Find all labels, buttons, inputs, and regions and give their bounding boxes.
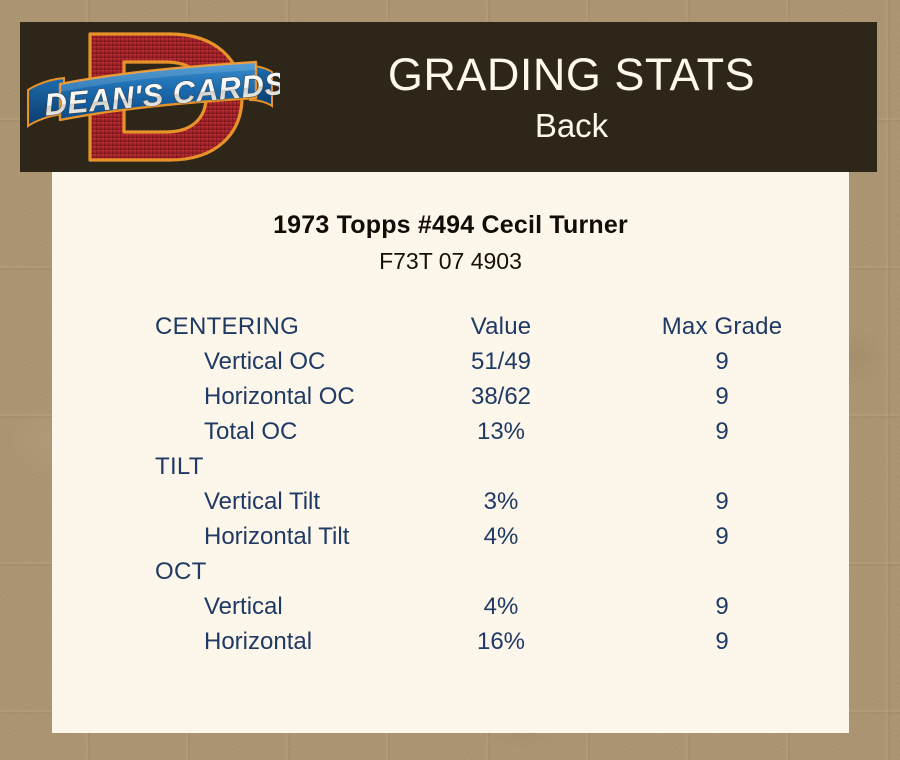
- content-panel: 1973 Topps #494 Cecil Turner F73T 07 490…: [52, 172, 849, 733]
- row-label-horizontal-oc: Horizontal OC: [52, 379, 407, 414]
- row-value-horizontal-tilt: 4%: [407, 519, 595, 554]
- table-row: Vertical OC 51/49 9: [52, 344, 849, 379]
- page-title: GRADING STATS: [280, 52, 863, 97]
- card-code: F73T 07 4903: [52, 248, 849, 275]
- table-row: Total OC 13% 9: [52, 414, 849, 449]
- table-header-row: CENTERING Value Max Grade: [52, 309, 849, 344]
- row-label-vertical-oc: Vertical OC: [52, 344, 407, 379]
- card-title: 1973 Topps #494 Cecil Turner: [52, 211, 849, 240]
- row-grade-oct-vertical: 9: [595, 589, 849, 624]
- row-label-oct-horizontal: Horizontal: [52, 624, 407, 659]
- section-spacer: [595, 449, 849, 484]
- deans-cards-logo[interactable]: DEAN'S CARDS: [20, 22, 280, 172]
- row-grade-horizontal-oc: 9: [595, 379, 849, 414]
- grading-stats-table: CENTERING Value Max Grade Vertical OC 51…: [52, 309, 849, 659]
- row-grade-oct-horizontal: 9: [595, 624, 849, 659]
- row-label-horizontal-tilt: Horizontal Tilt: [52, 519, 407, 554]
- row-grade-vertical-tilt: 9: [595, 484, 849, 519]
- section-spacer: [407, 449, 595, 484]
- row-grade-total-oc: 9: [595, 414, 849, 449]
- table-row: Horizontal 16% 9: [52, 624, 849, 659]
- header-title-group: GRADING STATS Back: [280, 52, 877, 142]
- section-row-oct: OCT: [52, 554, 849, 589]
- row-value-vertical-tilt: 3%: [407, 484, 595, 519]
- row-value-oct-horizontal: 16%: [407, 624, 595, 659]
- column-header-value: Value: [407, 309, 595, 344]
- row-label-total-oc: Total OC: [52, 414, 407, 449]
- table-row: Horizontal OC 38/62 9: [52, 379, 849, 414]
- page-subtitle: Back: [280, 109, 863, 142]
- page-root: DEAN'S CARDS GRADING STATS Back 1973 Top…: [0, 0, 900, 760]
- row-value-total-oc: 13%: [407, 414, 595, 449]
- section-header-tilt: TILT: [52, 449, 407, 484]
- row-label-oct-vertical: Vertical: [52, 589, 407, 624]
- row-value-oct-vertical: 4%: [407, 589, 595, 624]
- header-bar: DEAN'S CARDS GRADING STATS Back: [20, 22, 877, 172]
- deans-cards-logo-icon: DEAN'S CARDS: [20, 22, 280, 172]
- section-spacer: [407, 554, 595, 589]
- column-header-max-grade: Max Grade: [595, 309, 849, 344]
- table-row: Vertical 4% 9: [52, 589, 849, 624]
- table-row: Vertical Tilt 3% 9: [52, 484, 849, 519]
- section-header-centering: CENTERING: [52, 309, 407, 344]
- section-spacer: [595, 554, 849, 589]
- section-row-tilt: TILT: [52, 449, 849, 484]
- row-label-vertical-tilt: Vertical Tilt: [52, 484, 407, 519]
- section-header-oct: OCT: [52, 554, 407, 589]
- row-value-vertical-oc: 51/49: [407, 344, 595, 379]
- table-row: Horizontal Tilt 4% 9: [52, 519, 849, 554]
- row-grade-vertical-oc: 9: [595, 344, 849, 379]
- row-value-horizontal-oc: 38/62: [407, 379, 595, 414]
- row-grade-horizontal-tilt: 9: [595, 519, 849, 554]
